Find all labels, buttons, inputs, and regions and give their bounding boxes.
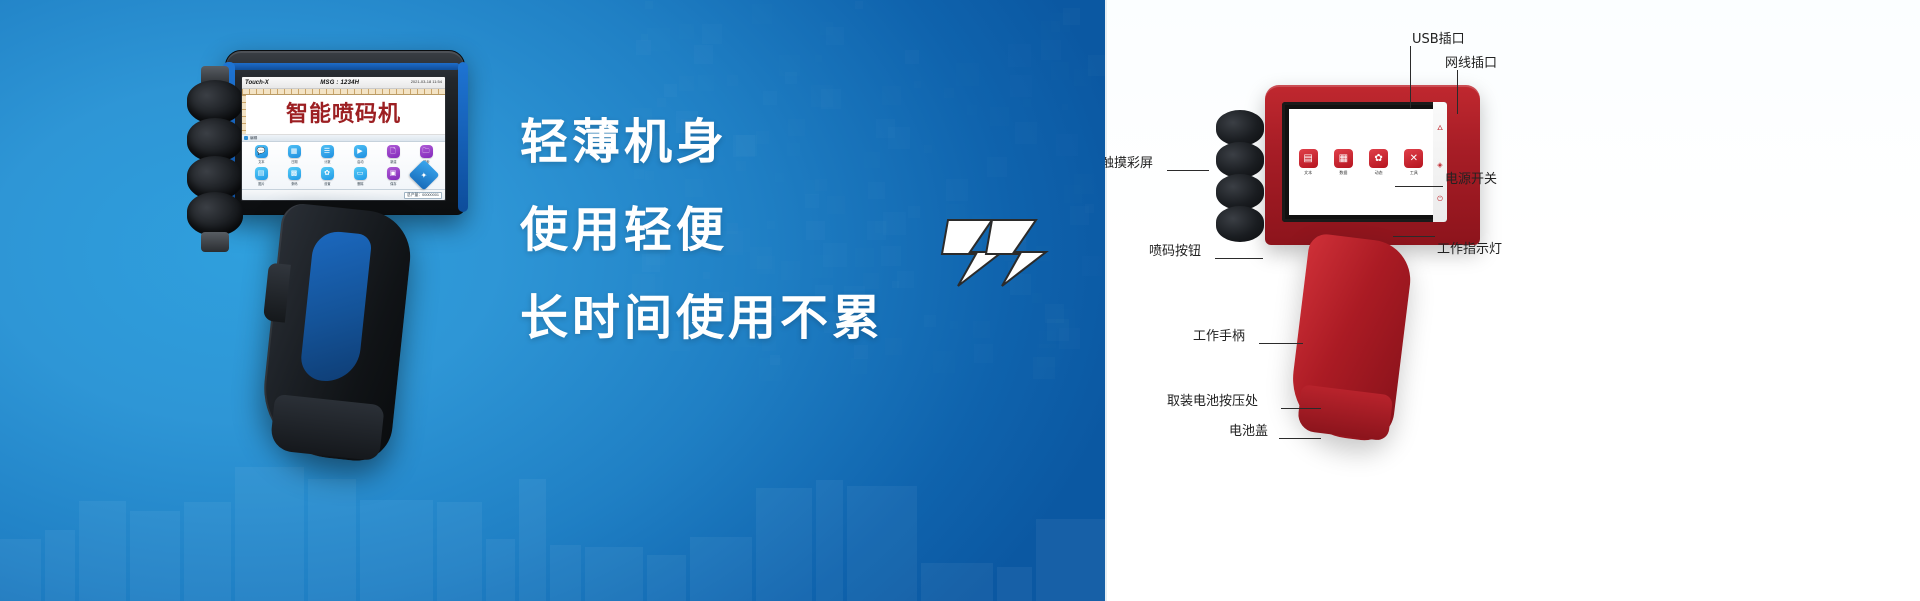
pixel-square — [882, 86, 901, 105]
pixel-square — [826, 27, 844, 45]
annotation-battery-cover: 电池盖 — [1229, 420, 1268, 439]
pixel-square — [636, 40, 651, 55]
headline-line-3: 长时间使用不累 — [520, 294, 980, 342]
pixel-square — [1062, 104, 1068, 110]
battery-pack — [269, 394, 384, 461]
building-shape — [550, 545, 581, 601]
pixel-square — [759, 358, 782, 381]
bellows-cap-bottom — [201, 232, 229, 252]
pixel-square — [770, 355, 780, 365]
annotation-usb-port: USB插口 — [1412, 28, 1465, 47]
lcd-app-speech-bubble[interactable]: 💬文本 — [245, 144, 277, 165]
red-battery-pack — [1296, 384, 1393, 441]
pixel-square — [905, 50, 919, 64]
save-icon: ▣ — [387, 167, 400, 180]
pixel-square — [1070, 206, 1089, 225]
headline-block: 轻薄机身 使用轻便 长时间使用不累 — [520, 118, 980, 342]
building-shape — [585, 547, 643, 601]
lcd-app-calendar[interactable]: ▦日期 — [278, 144, 310, 165]
bellows-ring — [187, 192, 243, 236]
pixel-square — [1056, 134, 1078, 156]
pixel-square — [1074, 69, 1091, 86]
red-app-label: 文本 — [1304, 170, 1312, 176]
pixel-square — [657, 98, 666, 107]
pixel-square — [1051, 13, 1070, 32]
building-shape — [0, 539, 41, 601]
lcd-app-gear[interactable]: ✿设置 — [311, 166, 343, 187]
droplet-icon[interactable]: ◈ — [1437, 161, 1442, 169]
pixel-square — [854, 345, 868, 359]
leader-line-status-light — [1393, 236, 1435, 237]
device-lcd-screen[interactable]: Touch-X MSG : 1234H 2021-03-18 11:54 智能喷… — [241, 76, 446, 201]
building-shape — [519, 479, 546, 601]
pixel-square — [1059, 328, 1080, 349]
pixel-square — [731, 70, 738, 77]
leader-line-battery-release — [1281, 408, 1321, 409]
headline-line-2: 使用轻便 — [520, 206, 980, 254]
annotation-network-port: 网线插口 — [1445, 52, 1497, 71]
building-shape — [360, 500, 433, 601]
list-icon: ☰ — [321, 145, 334, 158]
red-app-dynamic[interactable]: ✿动态 — [1363, 149, 1395, 176]
leader-line-work-handle — [1259, 343, 1303, 344]
bellows-ring — [1216, 110, 1264, 146]
building-shape — [437, 502, 482, 601]
pixel-square — [694, 45, 713, 64]
pixel-square — [1063, 8, 1080, 25]
tools-icon: ✕ — [1404, 149, 1423, 168]
building-shape — [486, 539, 515, 601]
leader-line-battery-cover — [1279, 438, 1321, 439]
annotation-work-handle: 工作手柄 — [1193, 325, 1245, 344]
red-app-label: 工具 — [1410, 170, 1418, 176]
pixel-square — [815, 55, 822, 62]
annotation-print-button: 喷码按钮 — [1149, 240, 1201, 259]
pixel-square — [933, 351, 955, 373]
pixel-square — [752, 4, 772, 24]
pixel-square — [771, 1, 784, 14]
pixel-square — [987, 157, 1007, 177]
pixel-square — [1008, 44, 1031, 67]
lcd-status-bar: Touch-X MSG : 1234H 2021-03-18 11:54 — [242, 77, 445, 89]
banner-stage: Touch-X MSG : 1234H 2021-03-18 11:54 智能喷… — [0, 0, 1920, 601]
lcd-app-label: 启动 — [357, 159, 363, 164]
dynamic-icon: ✿ — [1369, 149, 1388, 168]
pixel-square — [914, 81, 921, 88]
red-app-text[interactable]: ▤文本 — [1292, 149, 1324, 176]
lcd-counter: 总产量：00000001 — [404, 192, 442, 199]
lcd-app-label: 图片 — [258, 181, 264, 186]
lcd-app-label: 保存 — [390, 181, 396, 186]
building-shape — [847, 486, 917, 601]
leader-line-usb-port — [1410, 46, 1411, 108]
building-shape — [79, 501, 126, 601]
lcd-app-label: 文本 — [258, 159, 264, 164]
calendar-icon: ▦ — [288, 145, 301, 158]
pixel-square — [1047, 319, 1069, 341]
pixel-square — [1077, 110, 1093, 126]
pixel-square — [702, 24, 722, 44]
pixel-square — [672, 31, 679, 38]
red-app-label: 动态 — [1375, 170, 1383, 176]
panel-divider — [1105, 0, 1107, 601]
pixel-square — [855, 1, 863, 9]
pixel-square — [763, 91, 777, 105]
text-icon: ▤ — [1299, 149, 1318, 168]
device-accent-right — [458, 62, 468, 212]
lcd-app-label: 计数 — [324, 159, 330, 164]
lcd-title: Touch-X — [245, 80, 269, 86]
lcd-app-label: 删除 — [357, 181, 363, 186]
tab-dot-icon — [244, 136, 248, 140]
leader-line-network-port — [1457, 70, 1458, 114]
building-shape — [130, 511, 180, 601]
pixel-square — [820, 22, 833, 35]
lcd-app-label: 日期 — [291, 159, 297, 164]
finger — [1377, 416, 1483, 453]
device-handle — [257, 202, 414, 464]
right-white-panel: ▤文本▦数据✿动态✕工具 🜂 ◈ ⏻ USB插口 网线插口 电源开关 工作指示灯… — [1105, 0, 1920, 601]
lcd-app-trash[interactable]: ▭删除 — [344, 166, 376, 187]
pixel-square — [645, 1, 653, 9]
left-blue-panel: Touch-X MSG : 1234H 2021-03-18 11:54 智能喷… — [0, 0, 1105, 601]
pixel-square — [990, 107, 1009, 126]
bellows-ring — [1216, 174, 1264, 210]
pixel-square — [1045, 304, 1064, 323]
folder-icon: 🗀 — [420, 145, 433, 158]
trigger-button[interactable] — [263, 263, 291, 323]
red-screen-sidebar[interactable]: 🜂 ◈ ⏻ — [1433, 102, 1447, 222]
lcd-app-save[interactable]: ▣保存 — [377, 166, 409, 187]
lcd-app-label: 条码 — [291, 181, 297, 186]
pixel-square — [1041, 40, 1061, 60]
red-device-handle — [1286, 232, 1415, 443]
lcd-message: MSG : 1234H — [269, 80, 411, 86]
compass-glyph: ✦ — [421, 170, 428, 179]
lcd-app-label: 新建 — [390, 159, 396, 164]
pixel-square — [679, 76, 694, 91]
data-icon: ▦ — [1334, 149, 1353, 168]
headline-line-1: 轻薄机身 — [520, 118, 980, 166]
building-shape — [997, 567, 1032, 601]
pixel-square — [811, 85, 833, 107]
qrcode-icon: ▩ — [288, 167, 301, 180]
building-shape — [756, 488, 812, 601]
pixel-square — [779, 55, 800, 76]
leader-line-power-switch — [1395, 186, 1443, 187]
lcd-app-new-file[interactable]: 🗋新建 — [377, 144, 409, 165]
pixel-square — [821, 89, 841, 109]
pixel-square — [727, 75, 738, 86]
pixel-square — [664, 84, 677, 97]
red-app-data[interactable]: ▦数据 — [1327, 149, 1359, 176]
lcd-tab-bar[interactable]: 编辑 — [242, 135, 445, 142]
new-file-icon: 🗋 — [387, 145, 400, 158]
building-shape — [647, 555, 686, 601]
lcd-app-play[interactable]: ▶启动 — [344, 144, 376, 165]
pixel-square — [1064, 185, 1082, 203]
pixel-square — [1074, 174, 1094, 194]
red-app-tools[interactable]: ✕工具 — [1398, 149, 1430, 176]
flame-icon[interactable]: 🜂 — [1437, 120, 1443, 134]
lcd-app-list[interactable]: ☰计数 — [311, 144, 343, 165]
speech-bubble-icon: 💬 — [255, 145, 268, 158]
pixel-square — [679, 24, 694, 39]
pixel-square — [956, 63, 979, 86]
building-shape — [45, 530, 75, 601]
pixel-square — [1051, 62, 1069, 80]
lcd-clock: 2021-03-18 11:54 — [411, 80, 442, 84]
trash-icon: ▭ — [354, 167, 367, 180]
pixel-square — [1082, 256, 1102, 276]
pixel-square — [1056, 309, 1075, 328]
lcd-app-label: 设置 — [324, 181, 330, 186]
pixel-square — [647, 28, 670, 51]
lcd-canvas[interactable]: 智能喷码机 — [242, 95, 445, 135]
pixel-square — [967, 105, 977, 115]
lcd-app-qrcode[interactable]: ▩条码 — [278, 166, 310, 187]
pixel-square — [1085, 204, 1094, 213]
bellows-ring — [1216, 206, 1264, 242]
pixel-square — [1032, 293, 1042, 303]
annotation-status-light: 工作指示灯 — [1437, 238, 1502, 257]
pixel-square — [944, 88, 954, 98]
leader-line-print-button — [1215, 258, 1263, 259]
pixel-square — [1033, 357, 1055, 379]
lcd-bottom-bar: 总产量：00000001 — [242, 189, 445, 200]
pixel-square — [1015, 122, 1037, 144]
lcd-app-image[interactable]: ▤图片 — [245, 166, 277, 187]
building-shape — [1036, 519, 1105, 601]
building-shape — [921, 563, 993, 601]
skyline-silhouette — [0, 451, 1105, 601]
image-icon: ▤ — [255, 167, 268, 180]
building-shape — [690, 537, 752, 601]
lcd-canvas-text: 智能喷码机 — [286, 104, 401, 126]
play-icon: ▶ — [354, 145, 367, 158]
handheld-printer-device-blue: Touch-X MSG : 1234H 2021-03-18 11:54 智能喷… — [175, 28, 495, 498]
pixel-square — [1010, 75, 1032, 97]
red-device-screen[interactable]: ▤文本▦数据✿动态✕工具 🜂 ◈ ⏻ — [1282, 102, 1447, 222]
red-ink-head-bellows — [1216, 110, 1264, 245]
pixel-square — [1088, 55, 1105, 76]
pixel-square — [698, 75, 714, 91]
power-icon[interactable]: ⏻ — [1437, 196, 1443, 204]
lcd-tab-label: 编辑 — [250, 136, 257, 141]
annotation-battery-release: 取装电池按压处 — [1167, 390, 1258, 409]
pixel-square — [1037, 344, 1060, 367]
red-screen-app-grid: ▤文本▦数据✿动态✕工具 — [1289, 109, 1433, 215]
handle-grip-accent — [299, 229, 372, 384]
pixel-square — [1023, 99, 1031, 107]
pixel-square — [974, 344, 993, 363]
annotation-power-switch: 电源开关 — [1445, 168, 1497, 187]
bellows-ring — [1216, 142, 1264, 178]
pixel-square — [1039, 331, 1056, 348]
pixel-square — [1056, 287, 1069, 300]
ink-head-bellows — [187, 66, 243, 246]
pixel-square — [641, 34, 648, 41]
gear-icon: ✿ — [321, 167, 334, 180]
pixel-square — [1041, 21, 1060, 40]
pixel-square — [851, 358, 867, 374]
pixel-square — [785, 72, 797, 84]
leader-line-touch-screen — [1167, 170, 1209, 171]
red-app-label: 数据 — [1339, 170, 1347, 176]
building-shape — [816, 480, 843, 601]
annotation-touch-screen: 触摸彩屏 — [1105, 152, 1153, 171]
double-chevron-right-icon — [940, 218, 1060, 288]
building-shape — [184, 502, 231, 601]
